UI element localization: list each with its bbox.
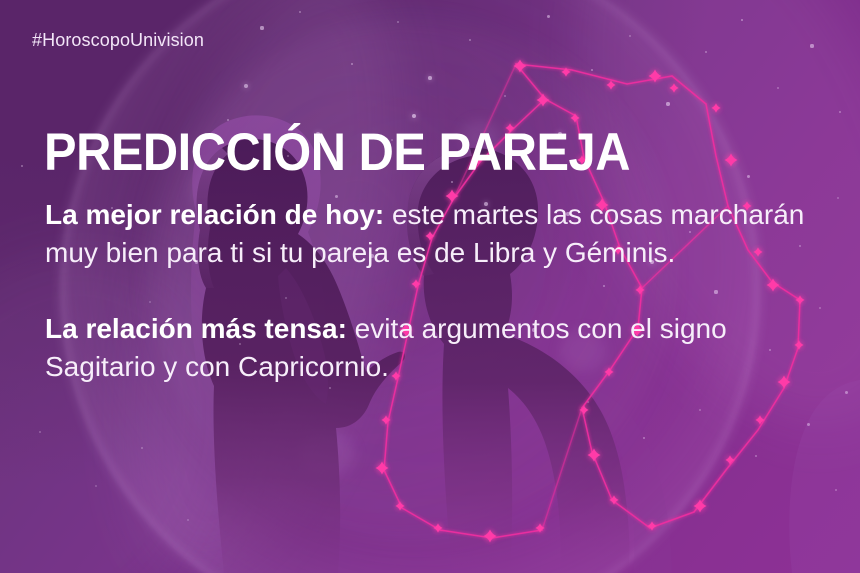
hashtag-label: #HoroscopoUnivision: [32, 30, 204, 51]
constellation-star: [570, 113, 579, 122]
paragraph-lead: La mejor relación de hoy:: [45, 199, 384, 230]
constellation-star: [725, 154, 738, 167]
page-title: PREDICCIÓN DE PAREJA: [44, 126, 630, 179]
constellation-star: [484, 530, 497, 543]
paragraph-best-match: La mejor relación de hoy: este martes la…: [45, 196, 835, 272]
constellation-star: [376, 462, 389, 475]
horoscope-card: #HoroscopoUnivision PREDICCIÓN DE PAREJA…: [0, 0, 860, 573]
constellation-star: [725, 455, 734, 464]
paragraph-lead: La relación más tensa:: [45, 313, 347, 344]
constellation-star: [647, 521, 656, 530]
constellation-star: [433, 523, 442, 532]
constellation-star: [669, 83, 678, 92]
paragraph-tense-match: La relación más tensa: evita argumentos …: [45, 310, 835, 386]
prediction-body: La mejor relación de hoy: este martes la…: [45, 196, 835, 386]
constellation-star: [606, 80, 615, 89]
constellation-star: [588, 449, 601, 462]
constellation-star: [711, 103, 720, 112]
constellation-star: [514, 60, 527, 73]
constellation-star: [755, 415, 764, 424]
